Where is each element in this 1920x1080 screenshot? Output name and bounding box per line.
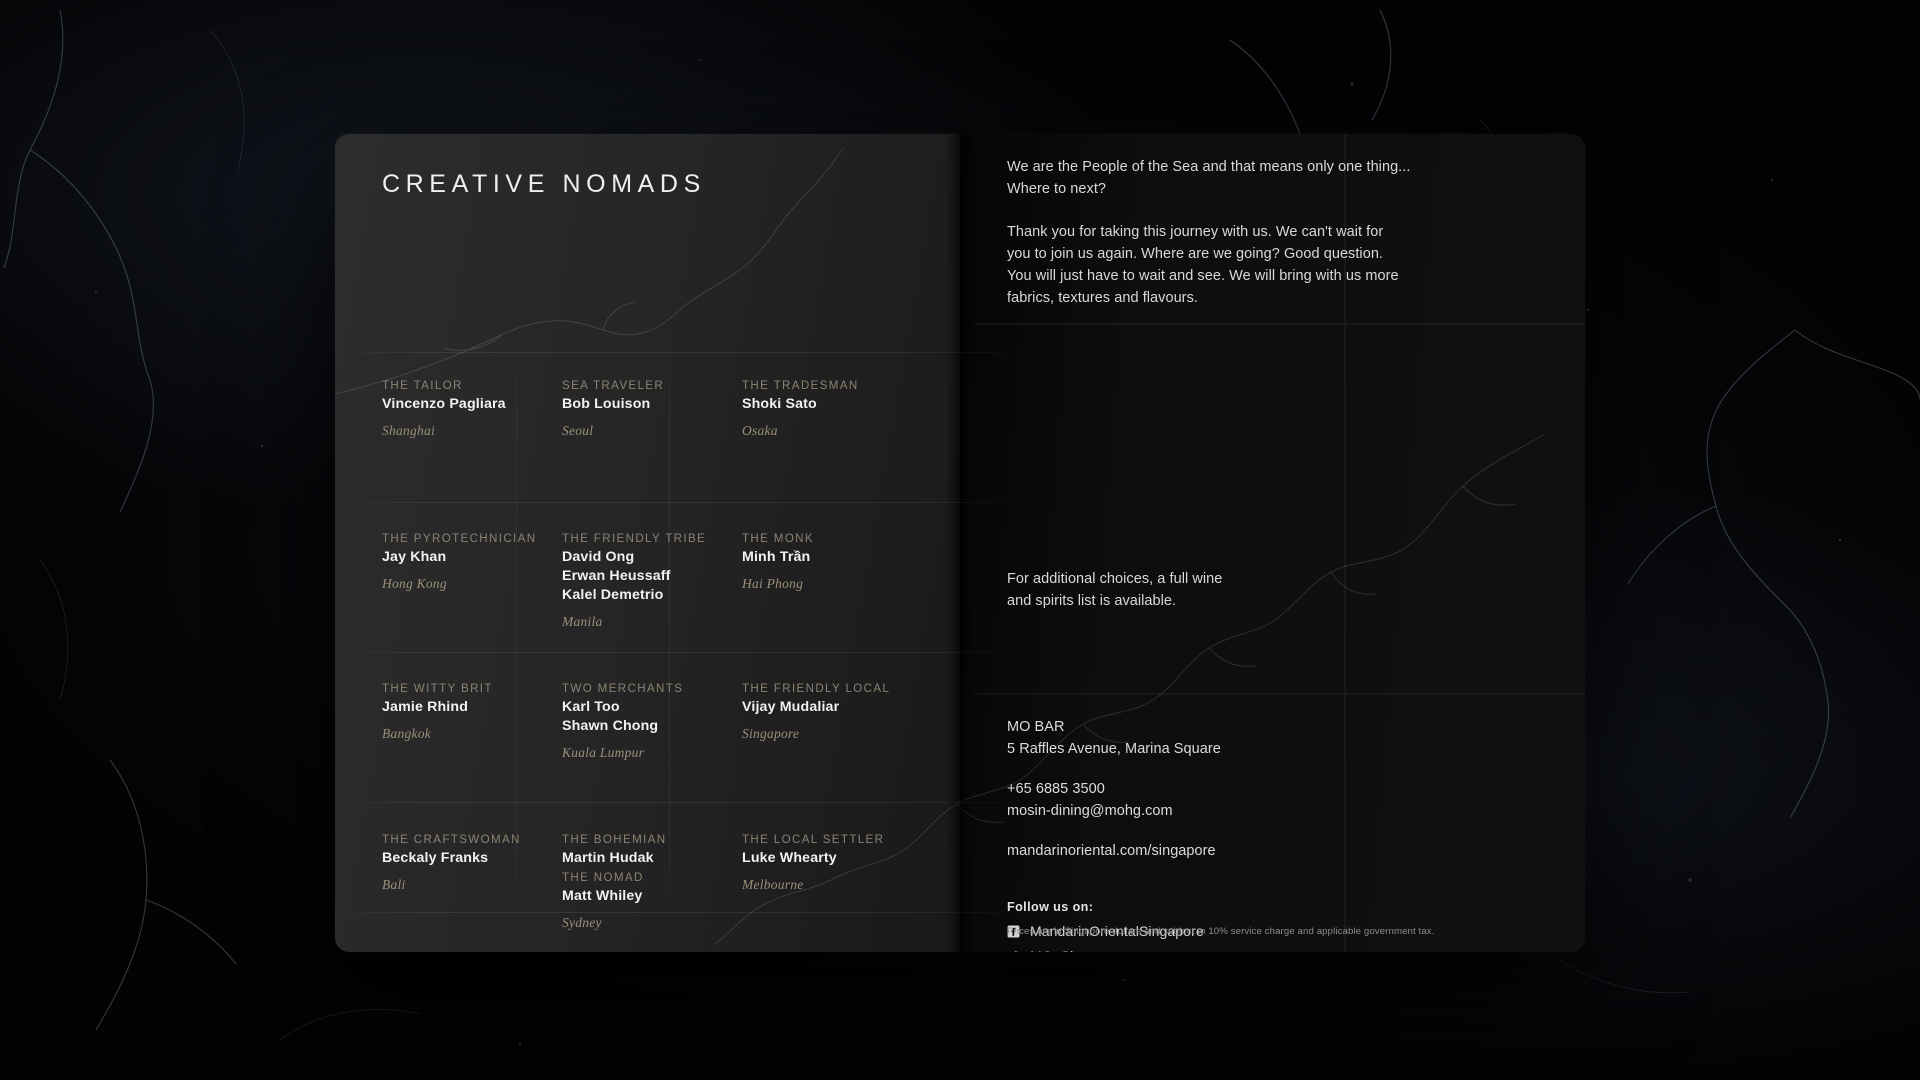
nomad-city: Sydney (562, 915, 742, 931)
page-title: CREATIVE NOMADS (382, 170, 706, 199)
nomad-city: Seoul (562, 423, 742, 439)
nomad-name: Kalel Demetrio (562, 587, 742, 603)
venue-contact-block: MO BAR 5 Raffles Avenue, Marina Square +… (1007, 716, 1427, 862)
nomad-cell[interactable]: THE FRIENDLY LOCAL Vijay Mudaliar Singap… (742, 681, 922, 761)
nomad-name: Shoki Sato (742, 396, 922, 412)
nomad-cell[interactable]: THE TRADESMAN Shoki Sato Osaka (742, 378, 922, 439)
follow-us-label: Follow us on: (1007, 900, 1427, 914)
venue-name: MO BAR (1007, 716, 1427, 738)
nomad-role: TWO MERCHANTS (562, 681, 742, 696)
nomad-name: David Ong (562, 549, 742, 565)
nomad-role: THE LOCAL SETTLER (742, 832, 922, 847)
creative-nomads-section: CREATIVE NOMADS THE TAILOR Vincenzo Pagl… (382, 134, 942, 952)
nomad-role: THE CRAFTSWOMAN (382, 832, 562, 847)
venue-email[interactable]: mosin-dining@mohg.com (1007, 800, 1427, 822)
nomad-cell[interactable]: THE WITTY BRIT Jamie Rhind Bangkok (382, 681, 562, 761)
venue-phone[interactable]: +65 6885 3500 (1007, 778, 1427, 800)
row-divider (335, 652, 1007, 653)
nomad-name: Bob Louison (562, 396, 742, 412)
nomad-row: THE TAILOR Vincenzo Pagliara Shanghai SE… (382, 378, 942, 439)
venue-address: 5 Raffles Avenue, Marina Square (1007, 738, 1427, 760)
twitter-icon (1007, 950, 1020, 953)
twitter-handle: MO_Singapore (1030, 948, 1125, 952)
nomad-name: Martin Hudak (562, 850, 742, 866)
nomad-city: Hong Kong (382, 576, 562, 592)
intro-paragraph-2: Thank you for taking this journey with u… (1007, 221, 1427, 309)
nomad-role: SEA TRAVELER (562, 378, 742, 393)
nomad-city: Bangkok (382, 726, 562, 742)
nomad-name: Beckaly Franks (382, 850, 562, 866)
nomad-city: Melbourne (742, 877, 922, 893)
nomad-role: THE PYROTECHNICIAN (382, 531, 562, 546)
nomad-city: Manila (562, 614, 742, 630)
price-disclaimer: Prices are in Singapore dollars and subj… (1007, 926, 1527, 937)
nomad-role: THE WITTY BRIT (382, 681, 562, 696)
nomad-city: Shanghai (382, 423, 562, 439)
nomad-city: Singapore (742, 726, 922, 742)
menu-spread: CREATIVE NOMADS THE TAILOR Vincenzo Pagl… (335, 134, 1585, 952)
nomad-cell[interactable]: THE MONK Minh Trần Hai Phong (742, 531, 922, 630)
social-item-twitter[interactable]: MO_Singapore (1007, 948, 1427, 952)
nomad-name: Minh Trần (742, 549, 922, 565)
nomad-role: THE TAILOR (382, 378, 562, 393)
nomad-cell[interactable]: THE PYROTECHNICIAN Jay Khan Hong Kong (382, 531, 562, 630)
row-divider (335, 802, 1007, 803)
nomad-cell[interactable]: THE FRIENDLY TRIBE David Ong Erwan Heuss… (562, 531, 742, 630)
nomad-row: THE WITTY BRIT Jamie Rhind Bangkok TWO M… (382, 681, 942, 761)
nomad-cell[interactable]: SEA TRAVELER Bob Louison Seoul (562, 378, 742, 439)
nomad-role: THE BOHEMIAN (562, 832, 742, 847)
nomad-role: THE TRADESMAN (742, 378, 922, 393)
farewell-message: We are the People of the Sea and that me… (1007, 156, 1427, 309)
nomad-name: Luke Whearty (742, 850, 922, 866)
nomad-role: THE MONK (742, 531, 922, 546)
nomad-name: Vincenzo Pagliara (382, 396, 562, 412)
row-divider (335, 352, 1007, 353)
nomad-cell[interactable]: THE LOCAL SETTLER Luke Whearty Melbourne (742, 832, 922, 931)
nomad-role: THE FRIENDLY LOCAL (742, 681, 922, 696)
nomad-name: Jay Khan (382, 549, 562, 565)
nomad-row: THE CRAFTSWOMAN Beckaly Franks Bali THE … (382, 832, 942, 931)
nomad-row: THE PYROTECHNICIAN Jay Khan Hong Kong TH… (382, 531, 942, 630)
nomad-name: Vijay Mudaliar (742, 699, 922, 715)
nomad-cell[interactable]: THE BOHEMIAN Martin Hudak THE NOMAD Matt… (562, 832, 742, 931)
wine-note-text: For additional choices, a full wine and … (1007, 568, 1427, 612)
right-page-content: We are the People of the Sea and that me… (1007, 134, 1487, 952)
nomad-role-secondary: THE NOMAD (562, 870, 742, 885)
nomad-name-secondary: Matt Whiley (562, 888, 742, 904)
nomad-name: Karl Too (562, 699, 742, 715)
nomad-cell[interactable]: THE TAILOR Vincenzo Pagliara Shanghai (382, 378, 562, 439)
nomad-city: Kuala Lumpur (562, 745, 742, 761)
nomad-city: Osaka (742, 423, 922, 439)
venue-website[interactable]: mandarinoriental.com/singapore (1007, 840, 1427, 862)
nomad-name: Erwan Heussaff (562, 568, 742, 584)
nomad-name: Jamie Rhind (382, 699, 562, 715)
nomad-city: Hai Phong (742, 576, 922, 592)
wine-list-note: For additional choices, a full wine and … (1007, 568, 1427, 612)
nomad-cell[interactable]: THE CRAFTSWOMAN Beckaly Franks Bali (382, 832, 562, 931)
nomad-city: Bali (382, 877, 562, 893)
intro-paragraph-1: We are the People of the Sea and that me… (1007, 156, 1427, 200)
nomad-name: Shawn Chong (562, 718, 742, 734)
nomad-role: THE FRIENDLY TRIBE (562, 531, 742, 546)
row-divider (335, 502, 1007, 503)
nomad-cell[interactable]: TWO MERCHANTS Karl Too Shawn Chong Kuala… (562, 681, 742, 761)
